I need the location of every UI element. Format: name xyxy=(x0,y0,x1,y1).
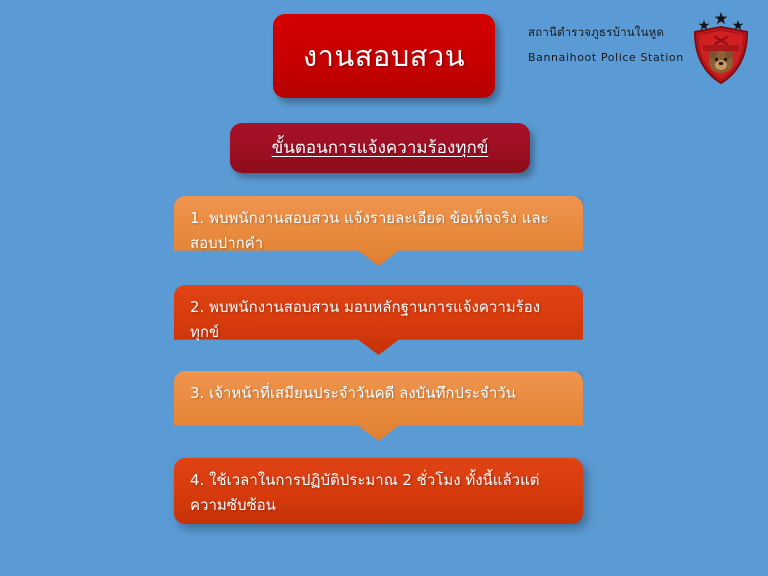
subtitle-text: ขั้นตอนการแจ้งความร้องทุกข์ xyxy=(272,137,489,159)
flow-step-3-label: 3. เจ้าหน้าที่เสมียนประจำวันคดี ลงบันทึก… xyxy=(190,381,567,406)
flow-step-4-label: 4. ใช้เวลาในการปฏิบัติประมาณ 2 ชั่วโมง ท… xyxy=(190,468,567,518)
org-name-english: Bannaihoot Police Station xyxy=(528,50,693,66)
flow-step-4: 4. ใช้เวลาในการปฏิบัติประมาณ 2 ชั่วโมง ท… xyxy=(174,458,583,524)
org-name-thai: สถานีตำรวจภูธรบ้านในหูด xyxy=(528,24,693,40)
flow-step-1-label: 1. พบพนักงานสอบสวน แจ้งรายละเอียด ข้อเท็… xyxy=(190,206,567,256)
flow-step-2-label: 2. พบพนักงานสอบสวน มอบหลักฐานการแจ้งความ… xyxy=(190,295,567,345)
flow-step-2: 2. พบพนักงานสอบสวน มอบหลักฐานการแจ้งความ… xyxy=(174,285,583,355)
slide-canvas: สถานีตำรวจภูธรบ้านในหูด Bannaihoot Polic… xyxy=(0,0,768,576)
flow-step-1: 1. พบพนักงานสอบสวน แจ้งรายละเอียด ข้อเท็… xyxy=(174,196,583,266)
police-shield-badge-icon xyxy=(690,10,752,86)
subtitle-banner: ขั้นตอนการแจ้งความร้องทุกข์ xyxy=(230,123,530,173)
flow-step-3: 3. เจ้าหน้าที่เสมียนประจำวันคดี ลงบันทึก… xyxy=(174,371,583,441)
page-title-text: งานสอบสวน xyxy=(303,39,465,73)
organization-header: สถานีตำรวจภูธรบ้านในหูด Bannaihoot Polic… xyxy=(528,24,693,66)
page-title: งานสอบสวน xyxy=(273,14,495,98)
